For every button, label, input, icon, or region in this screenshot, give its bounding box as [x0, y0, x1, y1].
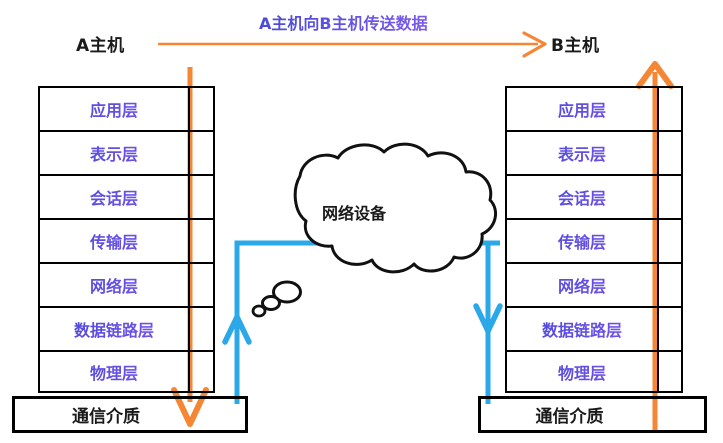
layer-row-a-session[interactable]: 会话层: [40, 176, 213, 220]
layer-label-a-datalink: 数据链路层: [40, 317, 188, 341]
layer-row-a-datalink[interactable]: 数据链路层: [40, 308, 213, 352]
layer-label-a-session: 会话层: [40, 185, 188, 209]
layer-label-a-application: 应用层: [40, 97, 188, 121]
layer-label-b-presentation: 表示层: [507, 141, 657, 165]
diagram-canvas: A主机 B主机 A主机向B主机传送数据 网络设备 应用层 表示层 会话层 传输层…: [0, 0, 723, 443]
layer-row-b-network[interactable]: 网络层: [507, 264, 681, 308]
layer-label-b-application: 应用层: [507, 97, 657, 121]
layer-label-b-network: 网络层: [507, 273, 657, 297]
communication-medium-a: 通信介质: [12, 396, 248, 433]
layer-row-a-presentation[interactable]: 表示层: [40, 132, 213, 176]
network-cloud: [253, 144, 496, 316]
host-b-label: B主机: [551, 31, 599, 56]
layer-label-b-session: 会话层: [507, 185, 657, 209]
flow-caption: A主机向B主机传送数据: [259, 10, 428, 34]
layer-label-b-datalink: 数据链路层: [507, 317, 657, 341]
communication-medium-b-label: 通信介质: [481, 402, 704, 427]
communication-medium-a-label: 通信介质: [15, 402, 245, 427]
layer-label-b-physical: 物理层: [507, 360, 657, 384]
header-flow-arrow: [158, 33, 545, 56]
layer-row-a-transport[interactable]: 传输层: [40, 220, 213, 264]
layer-label-a-network: 网络层: [40, 273, 188, 297]
layer-row-b-physical[interactable]: 物理层: [507, 352, 681, 391]
layer-row-b-application[interactable]: 应用层: [507, 88, 681, 132]
osi-stack-host-b: 应用层 表示层 会话层 传输层 网络层 数据链路层 物理层: [505, 86, 683, 393]
communication-medium-b: 通信介质: [478, 396, 707, 433]
network-to-medium-path: [440, 243, 500, 404]
osi-stack-host-a: 应用层 表示层 会话层 传输层 网络层 数据链路层 物理层: [38, 86, 215, 393]
host-a-label: A主机: [76, 31, 125, 56]
layer-row-a-physical[interactable]: 物理层: [40, 352, 213, 391]
layer-row-b-presentation[interactable]: 表示层: [507, 132, 681, 176]
layer-row-a-network[interactable]: 网络层: [40, 264, 213, 308]
layer-row-b-session[interactable]: 会话层: [507, 176, 681, 220]
layer-row-b-transport[interactable]: 传输层: [507, 220, 681, 264]
layer-label-a-transport: 传输层: [40, 229, 188, 253]
layer-label-b-transport: 传输层: [507, 229, 657, 253]
layer-row-a-application[interactable]: 应用层: [40, 88, 213, 132]
medium-to-network-path: [225, 243, 500, 404]
layer-label-a-physical: 物理层: [40, 360, 188, 384]
layer-label-a-presentation: 表示层: [40, 141, 188, 165]
layer-row-b-datalink[interactable]: 数据链路层: [507, 308, 681, 352]
network-cloud-label: 网络设备: [322, 200, 386, 224]
